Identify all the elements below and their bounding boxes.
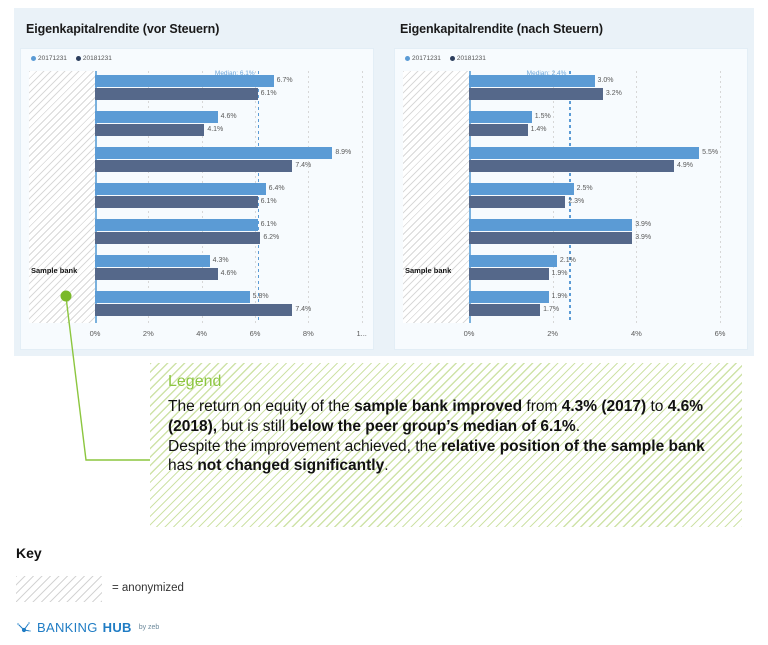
bar-group: 6.1%6.2%: [95, 219, 367, 249]
chart-card-nach-steuern: Eigenkapitalrendite (nach Steuern) 20171…: [388, 8, 754, 356]
x-tick-label: 6%: [250, 329, 261, 338]
bar-20181231[interactable]: [95, 88, 258, 100]
bar-value-label: 3.9%: [632, 232, 651, 244]
series-legend-item-2018[interactable]: 20181231: [76, 55, 112, 62]
axis-area-left: Median: 6.1%6.7%6.1%4.6%4.1%8.9%7.4%6.4%…: [95, 71, 367, 323]
series-dot-2017: [31, 56, 36, 61]
x-tick-label: 8%: [303, 329, 314, 338]
series-legend-label-2017: 20171231: [38, 55, 67, 62]
legend-paragraph-2: Despite the improvement achieved, the re…: [168, 437, 726, 477]
legend-p2-text3: .: [384, 457, 388, 474]
sample-bank-label-right: Sample bank: [405, 266, 451, 275]
bar-value-label: 8.9%: [332, 147, 351, 159]
series-legend-label-2017: 20171231: [412, 55, 441, 62]
bar-20171231[interactable]: [469, 147, 699, 159]
bar-20181231[interactable]: [469, 304, 540, 316]
x-axis-right: 0%2%4%6%: [469, 323, 741, 349]
bar-value-label: 1.7%: [540, 304, 559, 316]
chart-title-left: Eigenkapitalrendite (vor Steuern): [26, 22, 219, 36]
anonymized-band-right: [403, 71, 469, 323]
bar-20181231[interactable]: [469, 196, 565, 208]
plot-area-left: Sample bank Median: 6.1%6.7%6.1%4.6%4.1%…: [21, 71, 373, 349]
x-tick-label: 2%: [143, 329, 154, 338]
series-legend-left: 20171231 20181231: [31, 55, 112, 62]
banking-hub-logo[interactable]: BANKING HUB by zeb: [16, 620, 159, 635]
bar-value-label: 6.1%: [258, 88, 277, 100]
bar-20181231[interactable]: [95, 160, 292, 172]
legend-p1-text1: The return on equity of the: [168, 398, 354, 415]
bar-value-label: 4.3%: [210, 255, 229, 267]
bar-group: 2.1%1.9%: [469, 255, 741, 285]
bar-value-label: 1.9%: [549, 291, 568, 303]
legend-p2-bold1: relative position of the sample bank: [441, 438, 705, 455]
x-tick-label: 4%: [631, 329, 642, 338]
bar-20171231[interactable]: [469, 75, 595, 87]
bar-value-label: 5.8%: [250, 291, 269, 303]
bar-value-label: 4.1%: [204, 124, 223, 136]
bar-20181231[interactable]: [95, 232, 260, 244]
bar-group: 6.7%6.1%: [95, 75, 367, 105]
series-legend-label-2018: 20181231: [457, 55, 486, 62]
bar-value-label: 7.4%: [292, 160, 311, 172]
bar-20171231[interactable]: [95, 75, 274, 87]
x-tick-label: 2%: [547, 329, 558, 338]
bar-20171231[interactable]: [95, 111, 218, 123]
bar-group: 5.5%4.9%: [469, 147, 741, 177]
bar-value-label: 6.7%: [274, 75, 293, 87]
bar-value-label: 1.4%: [528, 124, 547, 136]
plot-area-right: Sample bank Median: 2.4%3.0%3.2%1.5%1.4%…: [395, 71, 747, 349]
x-axis-left: 0%2%4%6%8%1...: [95, 323, 367, 349]
bar-group: 3.9%3.9%: [469, 219, 741, 249]
chart-plot-left: 20171231 20181231 Sample bank Median: 6.…: [20, 48, 374, 350]
bar-20181231[interactable]: [95, 268, 218, 280]
series-legend-item-2018[interactable]: 20181231: [450, 55, 486, 62]
bar-20181231[interactable]: [95, 304, 292, 316]
x-tick-label: 6%: [715, 329, 726, 338]
bar-value-label: 2.5%: [574, 183, 593, 195]
legend-p2-bold2: not changed significantly: [197, 457, 384, 474]
legend-p1-text2: from: [522, 398, 562, 415]
legend-p1-bold1: sample bank improved: [354, 398, 522, 415]
legend-p1-bold2: 4.3% (2017): [562, 398, 646, 415]
bar-group: 2.5%2.3%: [469, 183, 741, 213]
chart-plot-right: 20171231 20181231 Sample bank Median: 2.…: [394, 48, 748, 350]
bar-20171231[interactable]: [469, 255, 557, 267]
series-legend-right: 20171231 20181231: [405, 55, 486, 62]
legend-title: Legend: [168, 373, 726, 391]
bar-group: 8.9%7.4%: [95, 147, 367, 177]
bar-20181231[interactable]: [469, 232, 632, 244]
sample-bank-label-left: Sample bank: [31, 266, 77, 275]
bar-value-label: 3.9%: [632, 219, 651, 231]
key-anonymized-label: = anonymized: [112, 582, 184, 594]
legend-p2-text2: has: [168, 457, 197, 474]
logo-text-hub: HUB: [103, 620, 132, 635]
series-dot-2017: [405, 56, 410, 61]
bar-20181231[interactable]: [469, 160, 674, 172]
x-tick-label: 0%: [464, 329, 475, 338]
bar-20171231[interactable]: [95, 291, 250, 303]
charts-band: Eigenkapitalrendite (vor Steuern) 201712…: [14, 8, 754, 356]
key-anonymized-swatch: [16, 576, 102, 602]
bar-20171231[interactable]: [469, 183, 574, 195]
legend-p1-text3: to: [646, 398, 668, 415]
bar-group: 1.9%1.7%: [469, 291, 741, 321]
legend-callout-box: Legend The return on equity of the sampl…: [150, 363, 742, 527]
bar-value-label: 6.4%: [266, 183, 285, 195]
bar-value-label: 6.1%: [258, 219, 277, 231]
bar-20171231[interactable]: [469, 291, 549, 303]
bar-value-label: 1.9%: [549, 268, 568, 280]
bar-20171231[interactable]: [95, 183, 266, 195]
network-node-icon: [16, 621, 32, 634]
legend-p1-bold4: below the peer group’s median of 6.1%: [289, 418, 575, 435]
key-title: Key: [16, 545, 42, 561]
bar-value-label: 4.6%: [218, 111, 237, 123]
bar-value-label: 3.2%: [603, 88, 622, 100]
axis-area-right: Median: 2.4%3.0%3.2%1.5%1.4%5.5%4.9%2.5%…: [469, 71, 741, 323]
legend-paragraph-1: The return on equity of the sample bank …: [168, 397, 726, 437]
legend-p1-text4: but is still: [217, 418, 289, 435]
bar-value-label: 1.5%: [532, 111, 551, 123]
bar-group: 1.5%1.4%: [469, 111, 741, 141]
bar-group: 4.6%4.1%: [95, 111, 367, 141]
x-tick-label: 1...: [356, 329, 366, 338]
bar-value-label: 6.1%: [258, 196, 277, 208]
bar-value-label: 2.3%: [565, 196, 584, 208]
logo-text-banking: BANKING: [37, 620, 98, 635]
bar-value-label: 6.2%: [260, 232, 279, 244]
bar-group: 4.3%4.6%: [95, 255, 367, 285]
bar-20181231[interactable]: [469, 268, 549, 280]
series-legend-item-2017[interactable]: 20171231: [31, 55, 67, 62]
logo-byline: by zeb: [139, 624, 160, 631]
series-legend-label-2018: 20181231: [83, 55, 112, 62]
bar-20171231[interactable]: [95, 219, 258, 231]
bar-group: 6.4%6.1%: [95, 183, 367, 213]
anonymized-band-left: [29, 71, 95, 323]
series-dot-2018: [76, 56, 81, 61]
bar-group: 5.8%7.4%: [95, 291, 367, 321]
bar-value-label: 2.1%: [557, 255, 576, 267]
bar-20171231[interactable]: [95, 255, 210, 267]
legend-p2-text1: Despite the improvement achieved, the: [168, 438, 441, 455]
bar-value-label: 4.6%: [218, 268, 237, 280]
bar-20181231[interactable]: [469, 124, 528, 136]
bar-value-label: 3.0%: [595, 75, 614, 87]
series-legend-item-2017[interactable]: 20171231: [405, 55, 441, 62]
x-tick-label: 0%: [90, 329, 101, 338]
chart-card-vor-steuern: Eigenkapitalrendite (vor Steuern) 201712…: [14, 8, 380, 356]
bar-value-label: 7.4%: [292, 304, 311, 316]
bar-20171231[interactable]: [469, 219, 632, 231]
chart-title-right: Eigenkapitalrendite (nach Steuern): [400, 22, 603, 36]
bar-20171231[interactable]: [95, 147, 332, 159]
bar-value-label: 5.5%: [699, 147, 718, 159]
x-tick-label: 4%: [196, 329, 207, 338]
series-dot-2018: [450, 56, 455, 61]
bar-20181231[interactable]: [95, 196, 258, 208]
bar-20181231[interactable]: [95, 124, 204, 136]
legend-p1-text5: .: [576, 418, 580, 435]
bar-20181231[interactable]: [469, 88, 603, 100]
bar-group: 3.0%3.2%: [469, 75, 741, 105]
bar-value-label: 4.9%: [674, 160, 693, 172]
bar-20171231[interactable]: [469, 111, 532, 123]
